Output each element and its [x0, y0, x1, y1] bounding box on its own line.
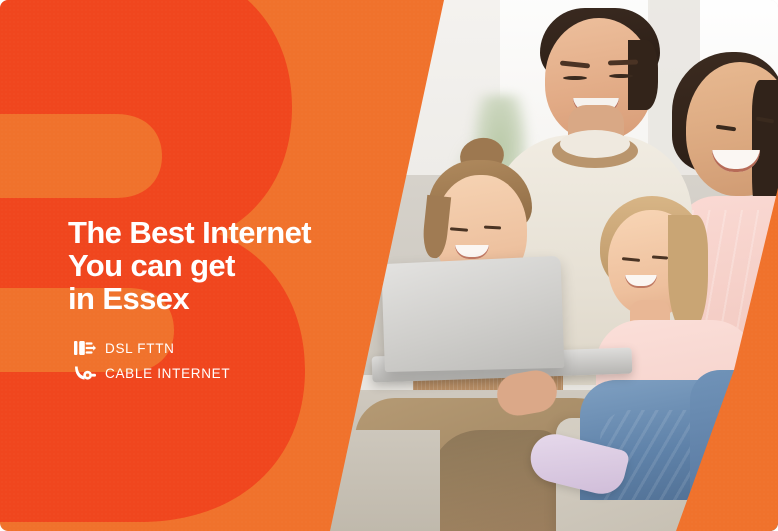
father-collar-inner — [560, 130, 630, 158]
father-eye — [563, 76, 587, 80]
father-eyebrow — [608, 59, 638, 65]
headline-line-2: You can get — [68, 249, 398, 282]
father-eye — [609, 74, 633, 78]
page-title: The Best Internet You can get in Essex — [68, 216, 398, 315]
coax-cable-icon — [74, 364, 96, 382]
list-item: CABLE INTERNET — [74, 364, 398, 382]
dsl-plug-icon — [74, 339, 96, 357]
promo-banner: The Best Internet You can get in Essex D… — [0, 0, 778, 531]
headline-line-1: The Best Internet — [68, 216, 398, 249]
banner-content: The Best Internet You can get in Essex D… — [68, 216, 398, 389]
list-item-label: DSL FTTN — [105, 341, 175, 356]
headline-line-3: in Essex — [68, 282, 398, 315]
feature-list: DSL FTTN CABLE INTERNET — [74, 339, 398, 382]
daughter-right-hair-front — [668, 215, 708, 335]
list-item: DSL FTTN — [74, 339, 398, 357]
laptop-screen-lid — [381, 256, 564, 372]
list-item-label: CABLE INTERNET — [105, 366, 230, 381]
